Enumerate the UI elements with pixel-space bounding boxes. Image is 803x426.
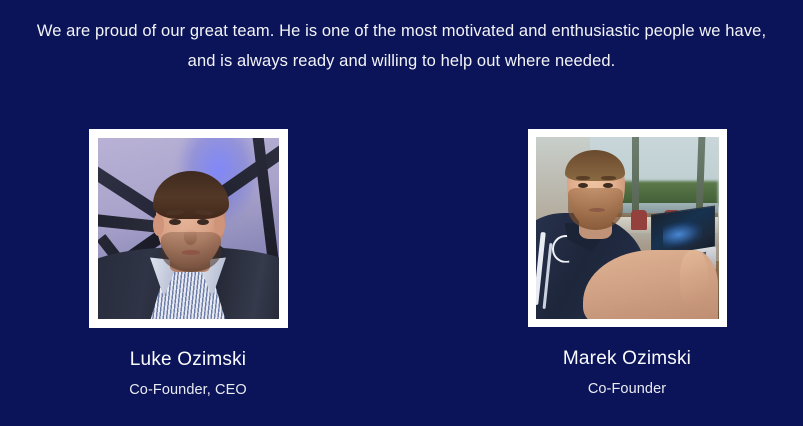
photo1-eye-left <box>169 219 181 225</box>
photo1-eye-right <box>197 219 209 225</box>
team-member-card-luke-ozimski: Luke Ozimski Co-Founder, CEO <box>0 129 376 399</box>
member-name-luke-ozimski: Luke Ozimski <box>0 349 376 371</box>
photo2-mouth <box>589 208 605 212</box>
member-name-marek-ozimski: Marek Ozimski <box>439 348 803 370</box>
photo2-eyebrow-left <box>576 176 591 180</box>
member-photo-frame-marek-ozimski <box>528 129 727 327</box>
team-testimonial-section: We are proud of our great team. He is on… <box>0 0 803 426</box>
photo2-chair-left <box>631 210 647 230</box>
member-photo-luke-ozimski <box>98 138 279 319</box>
photo1-ear-left <box>153 214 164 236</box>
photo1-mouth <box>182 250 200 254</box>
photo2-thumb <box>680 250 707 305</box>
member-role-luke-ozimski: Co-Founder, CEO <box>0 381 376 399</box>
photo2-eye-right <box>603 183 613 188</box>
team-member-card-marek-ozimski: Marek Ozimski Co-Founder <box>439 129 803 398</box>
member-role-marek-ozimski: Co-Founder <box>439 380 803 398</box>
testimonial-quote-block: We are proud of our great team. He is on… <box>0 16 803 76</box>
photo2-eyebrow-right <box>601 176 616 180</box>
testimonial-quote-text: We are proud of our great team. He is on… <box>28 16 776 76</box>
team-members-row: Luke Ozimski Co-Founder, CEO <box>0 129 803 409</box>
member-photo-marek-ozimski <box>536 137 719 319</box>
photo2-eye-left <box>578 183 588 188</box>
photo2-window-mullion-left <box>632 137 639 221</box>
photo2-laptop-screen-glow <box>663 219 702 249</box>
member-photo-frame-luke-ozimski <box>89 129 288 328</box>
